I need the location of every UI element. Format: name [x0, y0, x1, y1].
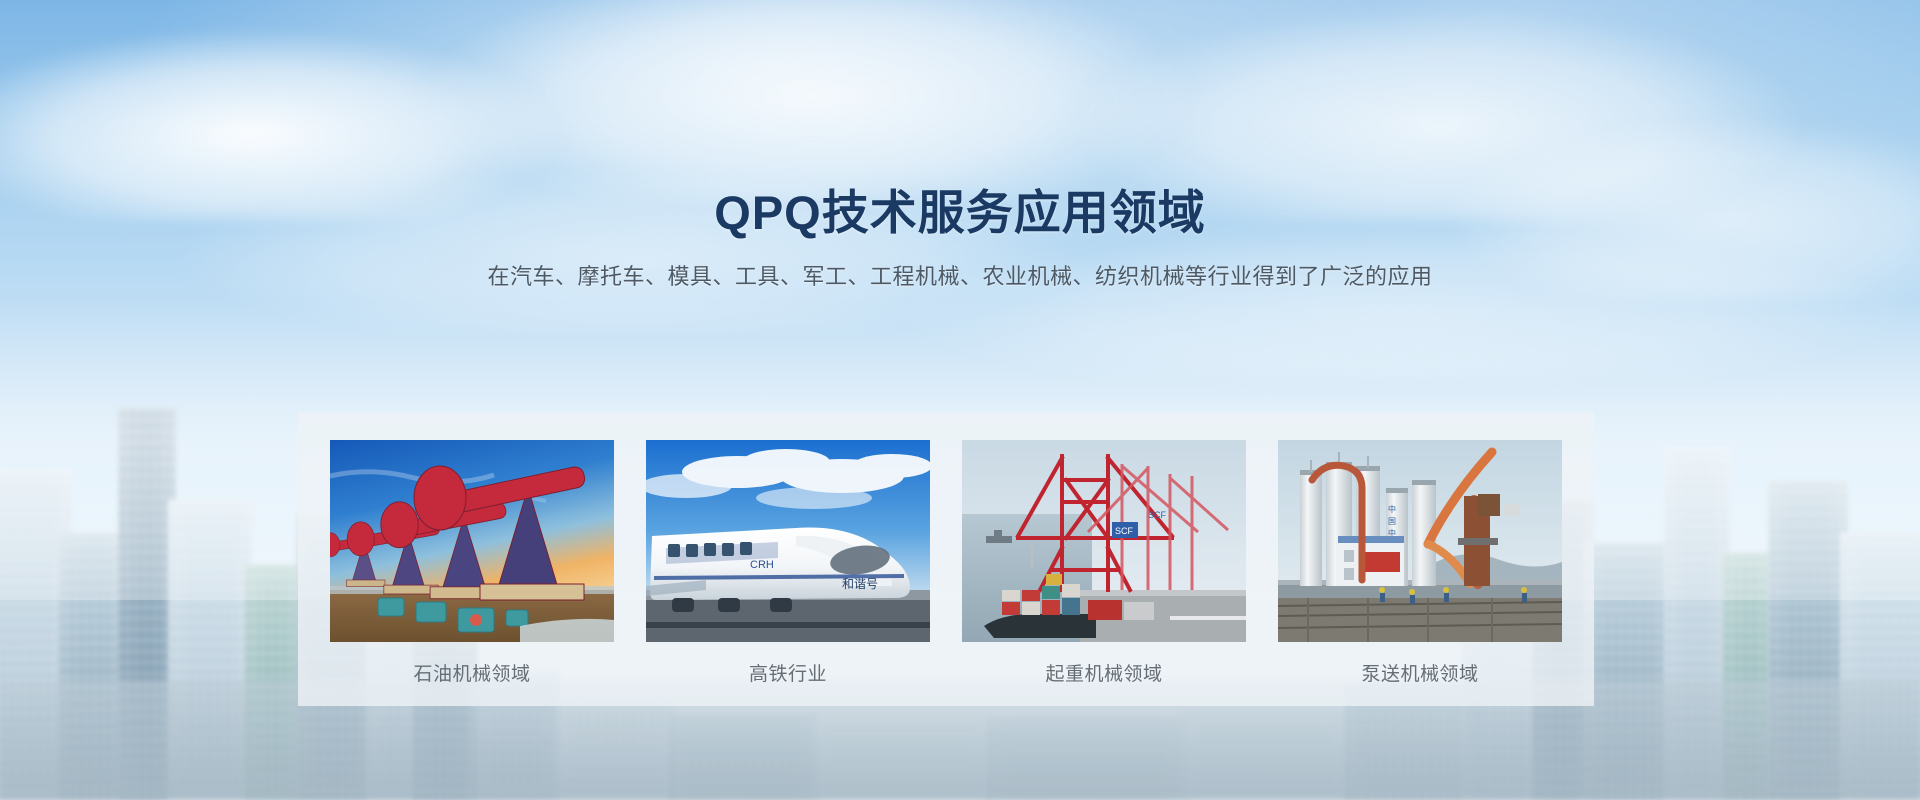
list-item[interactable]: 中国 中铁	[1278, 440, 1562, 686]
high-speed-train-photo[interactable]: CRH 和谐号	[646, 440, 930, 642]
card-caption: 石油机械领域	[330, 659, 614, 686]
svg-text:SCF: SCF	[1115, 526, 1134, 536]
banner-headings: QPQ技术服务应用领域 在汽车、摩托车、模具、工具、军工、工程机械、农业机械、纺…	[0, 186, 1920, 293]
card-caption: 泵送机械领域	[1278, 659, 1562, 686]
card-caption: 高铁行业	[646, 659, 930, 686]
page-title: QPQ技术服务应用领域	[0, 186, 1920, 240]
svg-text:国: 国	[1388, 517, 1396, 526]
oil-pumpjack-photo[interactable]	[330, 440, 614, 642]
svg-text:SCF: SCF	[1148, 510, 1167, 520]
list-item[interactable]: SCF SCF	[962, 440, 1246, 686]
card-caption: 起重机械领域	[962, 659, 1246, 686]
application-cards-panel: 石油机械领域	[298, 412, 1594, 706]
application-fields-banner: QPQ技术服务应用领域 在汽车、摩托车、模具、工具、军工、工程机械、农业机械、纺…	[0, 0, 1920, 800]
list-item[interactable]: CRH 和谐号 高铁行业	[646, 440, 930, 686]
page-subtitle: 在汽车、摩托车、模具、工具、军工、工程机械、农业机械、纺织机械等行业得到了广泛的…	[0, 262, 1920, 293]
port-gantry-crane-photo[interactable]: SCF SCF	[962, 440, 1246, 642]
svg-text:CRH: CRH	[750, 559, 774, 571]
svg-text:中: 中	[1388, 504, 1396, 514]
card-list: 石油机械领域	[298, 412, 1594, 706]
concrete-pump-photo[interactable]: 中国 中铁	[1278, 440, 1562, 642]
list-item[interactable]: 石油机械领域	[330, 440, 614, 686]
svg-text:和谐号: 和谐号	[842, 577, 878, 591]
